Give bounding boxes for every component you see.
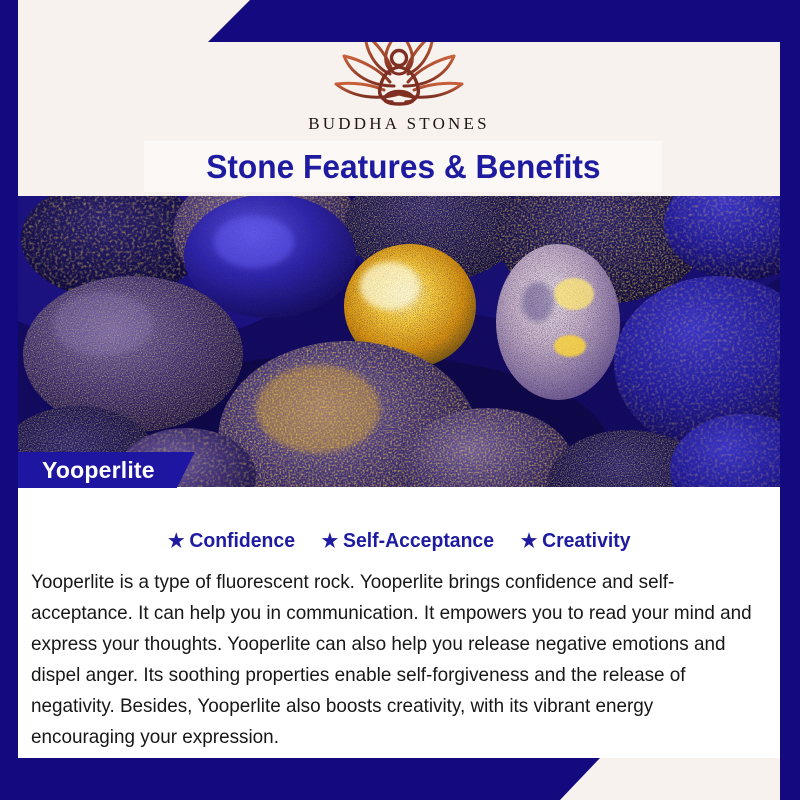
stone-name-label: Yooperlite	[42, 457, 155, 484]
stone-description-text: Yooperlite is a type of fluorescent rock…	[31, 567, 760, 753]
stone-info-card: BUDDHA STONES Stone Features & Benefits …	[0, 0, 800, 800]
section-title-band: Stone Features & Benefits	[144, 141, 662, 192]
benefit-item-confidence: ★Confidence	[168, 530, 295, 553]
brand-name: BUDDHA STONES	[18, 114, 780, 134]
benefit-item-self-acceptance: ★Self-Acceptance	[322, 530, 494, 553]
frame-bottom-accent	[0, 758, 800, 800]
page-title: Stone Features & Benefits	[206, 148, 600, 186]
star-icon: ★	[521, 531, 538, 552]
benefit-keywords: ★Confidence ★Self-Acceptance ★Creativity	[18, 530, 780, 553]
yooperlite-stones-illustration	[18, 194, 780, 488]
frame-right-edge	[780, 0, 800, 800]
benefit-item-creativity: ★Creativity	[521, 530, 631, 553]
star-icon: ★	[168, 531, 185, 552]
benefit-label: Creativity	[542, 530, 630, 552]
benefit-label: Self-Acceptance	[343, 530, 494, 552]
frame-left-edge	[0, 0, 18, 800]
stone-name-badge: Yooperlite	[18, 452, 195, 488]
description-panel: ★Confidence ★Self-Acceptance ★Creativity…	[18, 487, 780, 758]
hero-image	[18, 194, 780, 488]
benefit-label: Confidence	[189, 530, 295, 552]
star-icon: ★	[322, 531, 339, 552]
